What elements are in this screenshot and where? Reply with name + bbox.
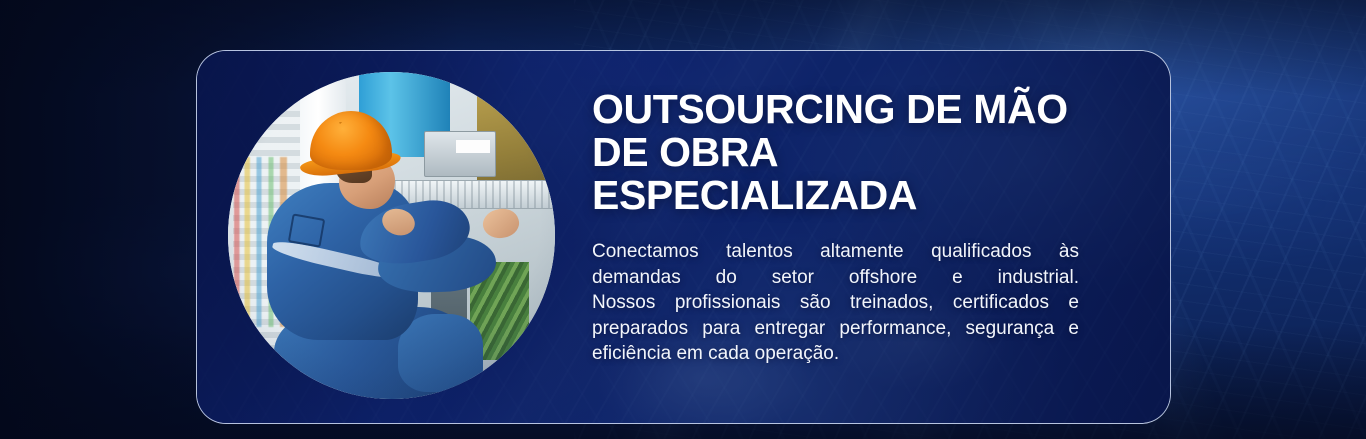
page-title: OUTSOURCING DE MÃO DE OBRA ESPECIALIZADA bbox=[592, 88, 1079, 217]
worker-photo-circle bbox=[228, 72, 555, 399]
headline-line-2: DE OBRA ESPECIALIZADA bbox=[592, 131, 1079, 217]
body-paragraph-1: Conectamos talentos altamente qualificad… bbox=[592, 239, 1079, 290]
banner-text-column: OUTSOURCING DE MÃO DE OBRA ESPECIALIZADA… bbox=[592, 88, 1079, 367]
banner-body-copy: Conectamos talentos altamente qualificad… bbox=[592, 239, 1079, 367]
promo-banner: OUTSOURCING DE MÃO DE OBRA ESPECIALIZADA… bbox=[0, 0, 1366, 439]
photo-circle-shading bbox=[228, 72, 555, 399]
body-paragraph-2: Nossos profissionais são treinados, cert… bbox=[592, 290, 1079, 367]
headline-line-1: OUTSOURCING DE MÃO bbox=[592, 86, 1068, 132]
